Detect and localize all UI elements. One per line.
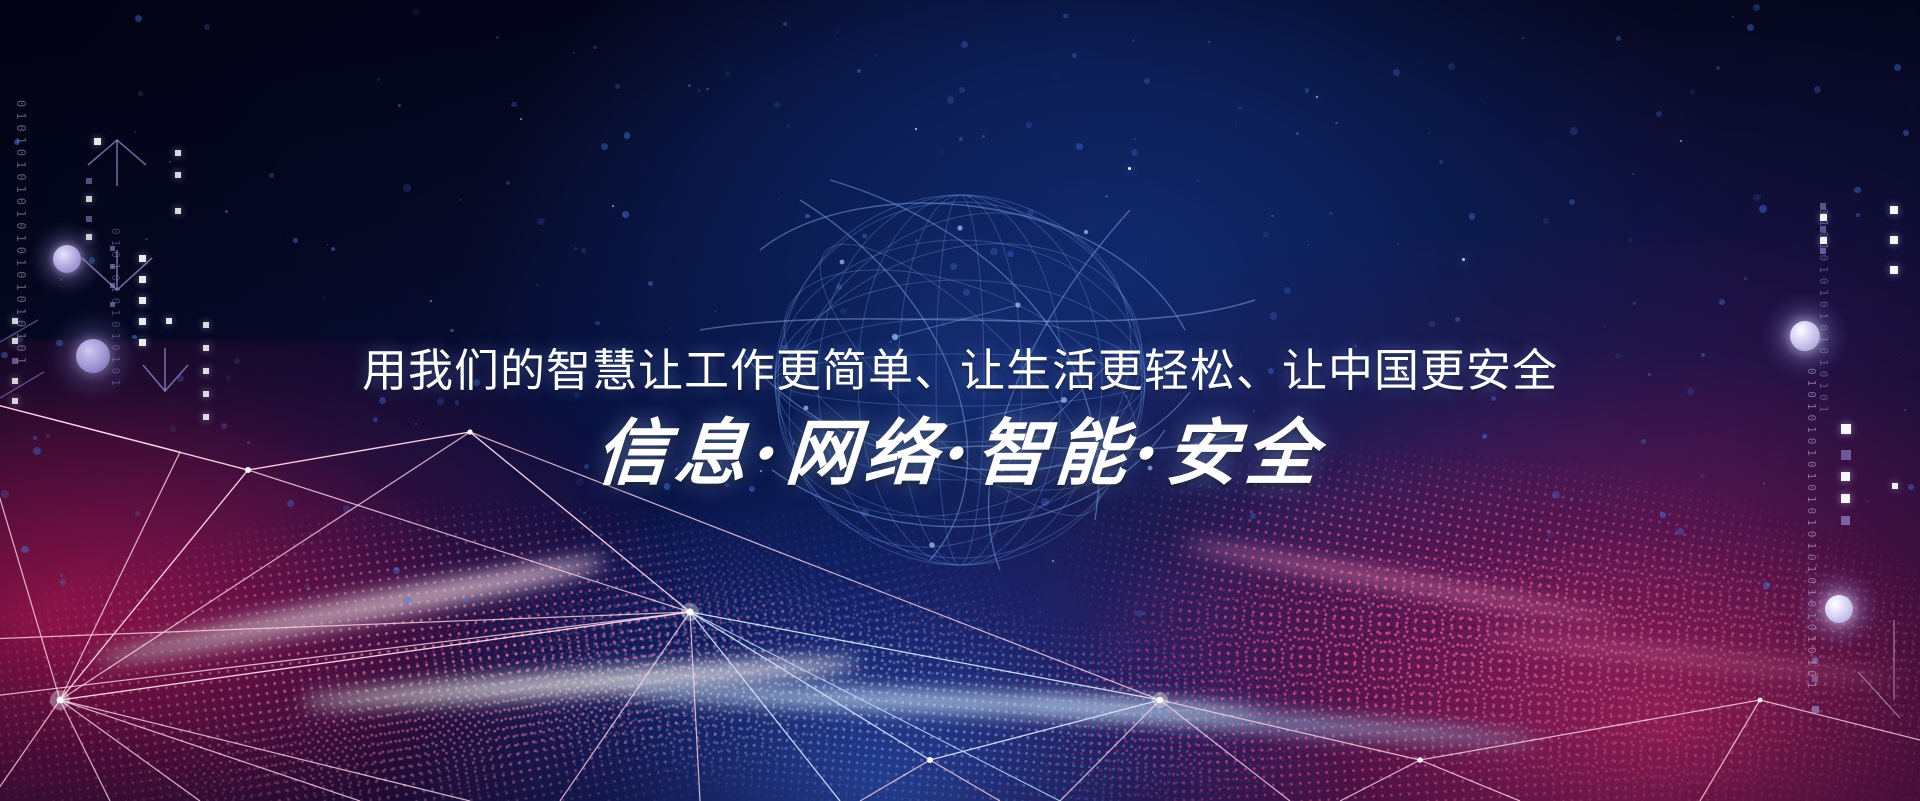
particle-dot xyxy=(1270,312,1278,320)
headline-text: 用我们的智慧让工作更简单、让生活更轻松、让中国更安全 xyxy=(0,344,1920,397)
particle-dot xyxy=(1603,325,1606,328)
particle-dot xyxy=(959,137,963,141)
square-marker xyxy=(139,255,146,262)
particle-dot xyxy=(805,214,810,219)
particle-dot xyxy=(783,22,787,26)
subline-text: 信息·网络·智能·安全 xyxy=(0,417,1920,489)
particle-dot xyxy=(89,257,96,264)
particle-dot xyxy=(331,247,335,251)
particle-dot xyxy=(1158,237,1159,238)
square-marker xyxy=(94,138,101,145)
square-marker xyxy=(166,318,172,324)
particle-dot xyxy=(595,321,600,326)
particle-dot xyxy=(287,500,294,507)
particle-dot xyxy=(1031,514,1033,516)
banner-text-block: 用我们的智慧让工作更简单、让生活更轻松、让中国更安全 信息·网络·智能·安全 xyxy=(0,344,1920,489)
square-marker xyxy=(1820,248,1826,254)
particle-dot xyxy=(1616,36,1621,41)
particle-dot xyxy=(862,234,867,239)
particle-dot xyxy=(963,289,970,296)
square-marker xyxy=(1812,706,1819,713)
particle-dot xyxy=(721,510,722,511)
particle-dot xyxy=(1814,86,1821,93)
particle-dot xyxy=(601,143,608,150)
particle-dot xyxy=(1660,512,1666,518)
square-marker xyxy=(1841,494,1850,503)
particle-dot xyxy=(1543,218,1549,224)
particle-dot xyxy=(1263,232,1269,238)
particle-dot xyxy=(293,238,298,243)
particle-dot xyxy=(1235,125,1237,127)
particle-dot xyxy=(138,91,143,96)
particle-dot xyxy=(857,69,861,73)
particle-dot xyxy=(624,132,631,139)
particle-dot xyxy=(1570,127,1577,134)
particle-dot xyxy=(458,549,460,551)
square-marker xyxy=(86,216,92,222)
particle-dot xyxy=(413,9,419,15)
particle-dot xyxy=(1136,610,1143,617)
particle-dot xyxy=(1076,143,1083,150)
square-marker xyxy=(86,178,92,184)
particle-dot xyxy=(622,211,629,218)
square-marker xyxy=(1820,226,1826,232)
banner-canvas: 0101010101010101010101 01010101010101 01… xyxy=(0,0,1920,801)
particle-dot xyxy=(1197,180,1199,182)
particle-dot xyxy=(786,124,791,129)
particle-dot xyxy=(714,310,716,312)
particle-dot xyxy=(145,238,147,240)
particle-dot xyxy=(725,71,730,76)
square-marker xyxy=(1812,658,1818,664)
particle-dot xyxy=(327,244,329,246)
square-marker xyxy=(139,276,146,283)
particle-dot xyxy=(1629,238,1633,242)
particle-dot xyxy=(169,161,171,163)
particle-dot xyxy=(947,96,955,104)
particle-dot xyxy=(1569,199,1575,205)
square-marker xyxy=(12,318,18,324)
particle-dot xyxy=(511,102,516,107)
particle-dot xyxy=(1753,194,1761,202)
particle-dot xyxy=(1552,491,1560,499)
particle-dot xyxy=(537,218,545,226)
square-marker xyxy=(203,322,209,328)
square-marker xyxy=(175,208,181,214)
particle-dot xyxy=(459,198,462,201)
particle-dot xyxy=(1475,591,1480,596)
particle-dot xyxy=(1063,14,1067,18)
square-marker xyxy=(1820,203,1826,209)
square-marker xyxy=(1890,236,1898,244)
square-marker xyxy=(139,297,146,304)
particle-dot xyxy=(1067,543,1070,546)
particle-dot xyxy=(889,341,891,343)
particle-dot xyxy=(135,15,142,22)
square-marker xyxy=(1890,266,1898,274)
square-marker xyxy=(1890,206,1898,214)
particle-dot xyxy=(778,198,780,200)
particle-dot xyxy=(1007,251,1014,258)
particle-dot xyxy=(1676,528,1684,536)
particle-dot xyxy=(1284,287,1291,294)
star-dot xyxy=(430,300,432,302)
particle-dot xyxy=(1911,105,1913,107)
particle-dot xyxy=(271,555,274,558)
square-marker xyxy=(1820,237,1827,244)
square-marker xyxy=(175,150,181,156)
particle-dot xyxy=(1366,602,1371,607)
square-marker xyxy=(86,196,92,202)
particle-dot xyxy=(1429,132,1431,134)
particle-dot xyxy=(304,583,310,589)
particle-dot xyxy=(1866,500,1869,503)
square-marker xyxy=(139,318,146,325)
particle-dot xyxy=(403,184,411,192)
particle-dot xyxy=(1719,299,1725,305)
particle-dot xyxy=(135,511,140,516)
particle-dot xyxy=(536,284,538,286)
star-dot xyxy=(612,205,614,207)
particle-dot xyxy=(1455,317,1460,322)
particle-dot xyxy=(1570,498,1573,501)
particle-dot xyxy=(959,87,965,93)
square-marker xyxy=(175,172,181,178)
particle-dot xyxy=(574,247,577,250)
particle-dot xyxy=(1,490,9,498)
particle-dot xyxy=(840,308,846,314)
particle-dot xyxy=(1633,302,1636,305)
particle-dot xyxy=(506,181,510,185)
particle-dot xyxy=(1238,107,1242,111)
particle-dot xyxy=(1856,213,1860,217)
square-marker xyxy=(1841,516,1850,525)
particle-dot xyxy=(982,135,985,138)
particle-dot xyxy=(1854,187,1860,193)
square-marker xyxy=(110,283,115,288)
particle-dot xyxy=(1439,160,1443,164)
particle-dot xyxy=(225,210,228,213)
square-marker xyxy=(110,246,115,251)
star-dot xyxy=(1052,560,1054,562)
square-marker xyxy=(86,234,92,240)
particle-dot xyxy=(1335,122,1338,125)
square-marker xyxy=(110,264,115,269)
particle-dot xyxy=(1632,173,1634,175)
square-marker xyxy=(1812,676,1818,682)
particle-dot xyxy=(940,150,944,154)
particle-dot xyxy=(21,546,29,554)
particle-dot xyxy=(269,173,274,178)
particle-dot xyxy=(1039,611,1041,613)
particle-dot xyxy=(1763,582,1770,589)
particle-dot xyxy=(642,167,644,169)
star-dot xyxy=(520,118,522,120)
glow-node-right-bottom xyxy=(1798,568,1880,650)
particle-dot xyxy=(1329,212,1333,216)
particle-dot xyxy=(861,509,869,517)
square-marker xyxy=(110,302,115,307)
particle-dot xyxy=(60,579,67,586)
particle-dot xyxy=(692,22,693,23)
star-dot xyxy=(1680,140,1682,142)
particle-dot xyxy=(1305,88,1310,93)
particle-dot xyxy=(1469,213,1476,220)
particle-dot xyxy=(1393,69,1401,77)
particle-dot xyxy=(1311,585,1313,587)
particle-dot xyxy=(1308,244,1310,246)
particle-dot xyxy=(1759,205,1767,213)
square-marker xyxy=(1820,214,1827,221)
star-dot xyxy=(1462,258,1465,261)
particle-dot xyxy=(403,597,411,605)
particle-dot xyxy=(393,567,400,574)
particle-dot xyxy=(1547,530,1554,537)
particle-dot xyxy=(17,337,22,342)
